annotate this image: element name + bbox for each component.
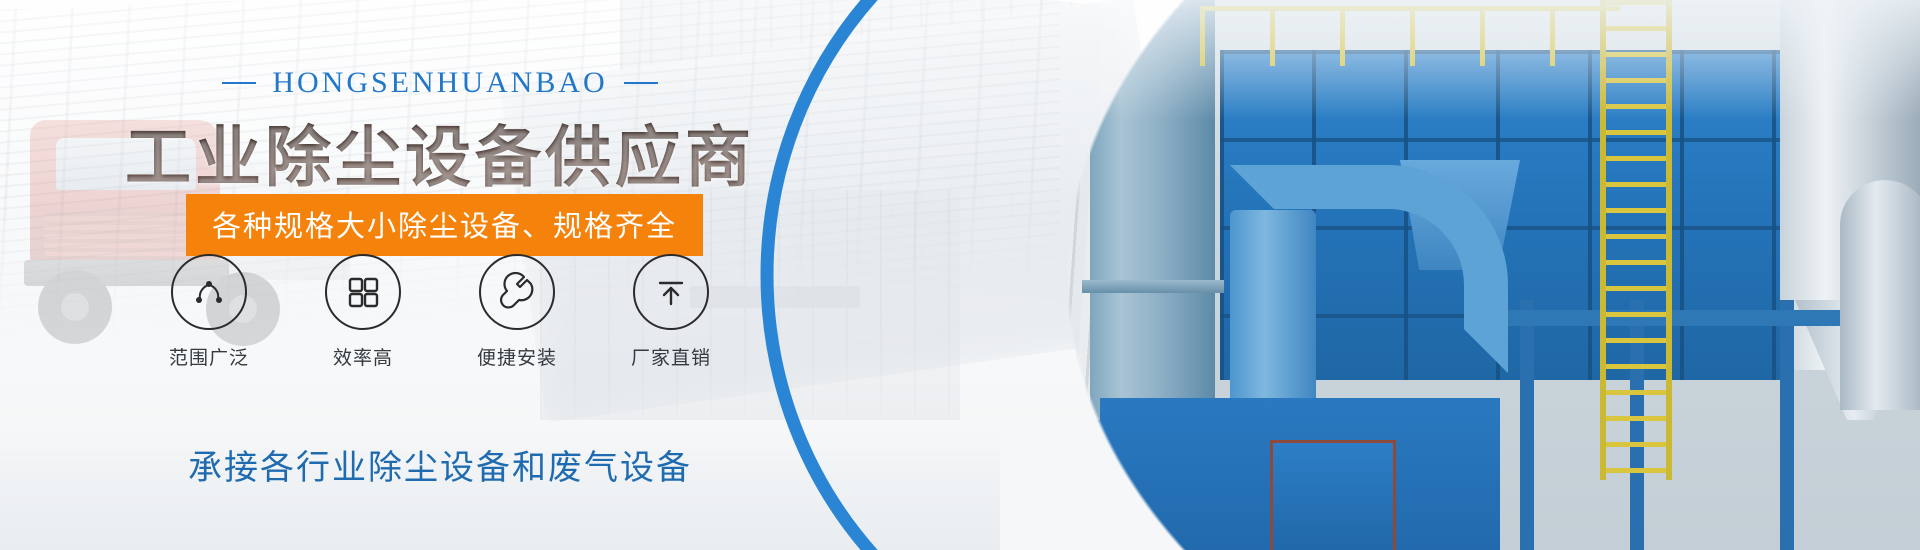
- feature-icon-circle: [633, 254, 709, 330]
- feature-item-efficiency[interactable]: 效率高: [308, 254, 418, 370]
- tagline-text: HONGSENHUANBAO: [272, 66, 607, 100]
- feature-list: 范围广泛 效率高: [110, 254, 770, 370]
- feature-item-installation[interactable]: 便捷安装: [462, 254, 572, 370]
- photo-panel: [800, 0, 1920, 550]
- brand-tagline: HONGSENHUANBAO: [0, 66, 880, 100]
- tagline-dash-right: [624, 82, 658, 84]
- feature-label: 范围广泛: [169, 343, 249, 370]
- highlight-badge: 各种规格大小除尘设备、规格齐全: [186, 194, 703, 256]
- feature-label: 厂家直销: [631, 343, 711, 370]
- feature-item-factory-direct[interactable]: 厂家直销: [616, 254, 726, 370]
- feature-item-range[interactable]: 范围广泛: [154, 254, 264, 370]
- feature-icon-circle: [171, 254, 247, 330]
- grid-squares-icon: [344, 273, 382, 311]
- industrial-dust-collector-photo: [800, 0, 1920, 550]
- page-title: 工业除尘设备供应商: [0, 104, 880, 200]
- photo-edge-fade: [800, 0, 1920, 550]
- highlight-text: 各种规格大小除尘设备、规格齐全: [212, 209, 677, 243]
- hero-banner: HONGSENHUANBAO 工业除尘设备供应商 各种规格大小除尘设备、规格齐全: [0, 0, 1920, 550]
- scope-range-icon: [189, 272, 229, 312]
- feature-icon-circle: [479, 254, 555, 330]
- page-subtitle: 承接各行业除尘设备和废气设备: [0, 440, 880, 489]
- wrench-icon: [497, 272, 537, 312]
- feature-label: 便捷安装: [477, 343, 557, 370]
- banner-content: HONGSENHUANBAO 工业除尘设备供应商 各种规格大小除尘设备、规格齐全: [0, 0, 880, 550]
- feature-icon-circle: [325, 254, 401, 330]
- up-arrow-icon: [651, 272, 691, 312]
- feature-label: 效率高: [333, 343, 393, 370]
- tagline-dash-left: [222, 82, 256, 84]
